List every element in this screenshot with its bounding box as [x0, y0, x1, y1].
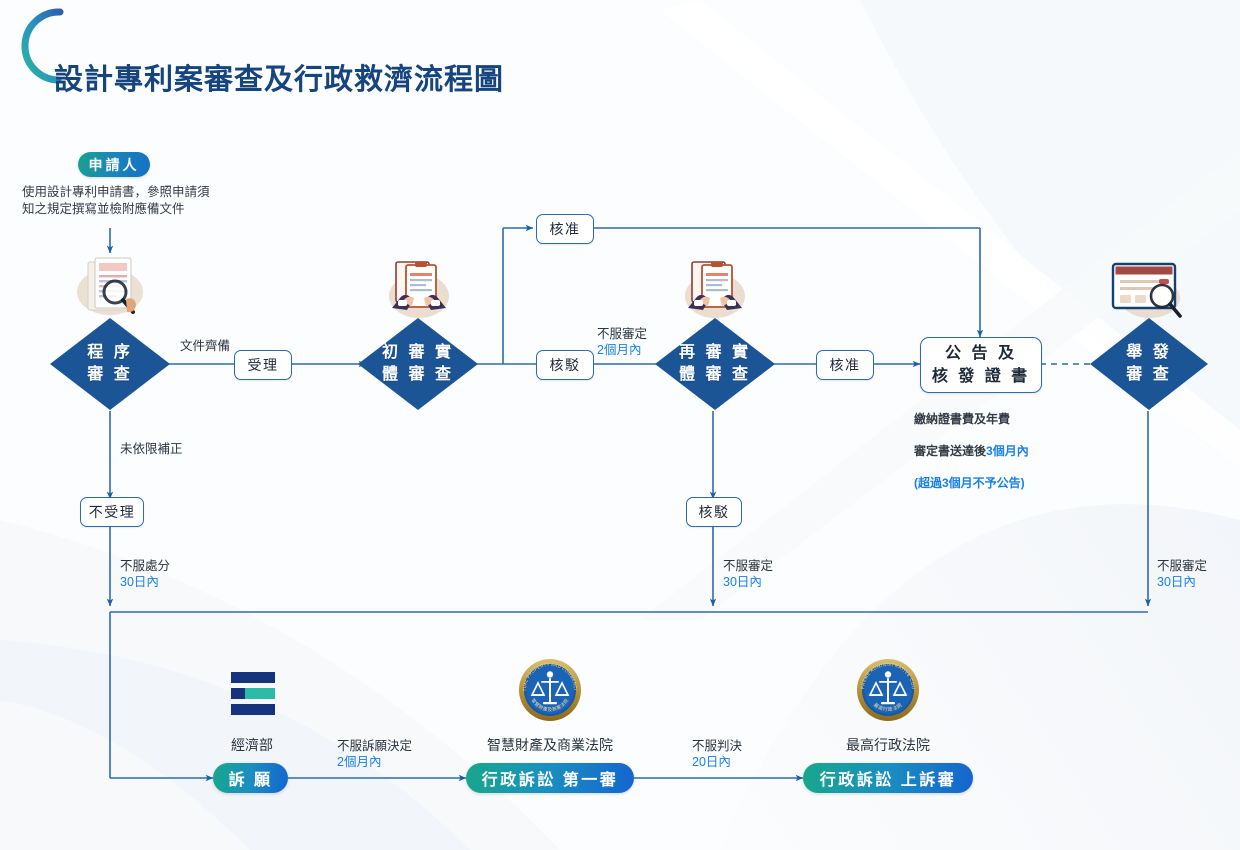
edge-label-deadline: 30日內 [723, 574, 773, 590]
applicant-note: 使用設計專利申請書，參照申請須 知之規定撰寫並檢附應備文件 [22, 184, 252, 218]
edge-label-main: 不服訴願決定 [337, 738, 412, 754]
box-publish-and-issue-certificate[interactable]: 公 告 及 核 發 證 書 [920, 337, 1042, 393]
documents-magnifier-icon [70, 252, 156, 324]
supreme-administrative-court-seal-icon: SUPREME ADMINISTRATIVE COURT 最高行政法院 [856, 658, 920, 722]
stage-invalidation-review[interactable]: 舉 發 審 查 [1090, 318, 1208, 410]
edge-label-deadline: 30日內 [1157, 574, 1207, 590]
edge-label-deadline: 20日內 [692, 754, 742, 770]
edge-label-main: 不服審定 [1157, 558, 1207, 574]
stage-label: 舉 發 審 查 [1090, 318, 1208, 410]
box-not-accept[interactable]: 不受理 [80, 497, 144, 527]
stage-label: 初 審 實 體 審 查 [358, 318, 478, 410]
stage-procedural-review[interactable]: 程 序 審 查 [50, 318, 170, 410]
stage-label-line1: 初 審 實 [382, 342, 454, 364]
box-reject-first[interactable]: 核駁 [536, 350, 594, 380]
stage-label-line1: 舉 發 [1126, 342, 1171, 364]
moea-bars-icon [225, 668, 281, 720]
box-approve-second[interactable]: 核准 [816, 350, 874, 380]
ip-commercial-court-seal-icon: INTELLECTUAL PROPERTY AND COMMERCIAL COU… [518, 658, 582, 722]
publish-note-line2: 審定書送達後3個月內 [914, 443, 1104, 459]
edge-label-not-corrected: 未依限補正 [120, 441, 183, 457]
publish-note-line2-blue: 3個月內 [986, 444, 1029, 458]
edge-label-main: 不服判決 [692, 738, 742, 754]
edge-label-dissatisfied-decision-30d: 不服審定 30日內 [723, 558, 773, 590]
stage-label-line2: 體 審 查 [679, 364, 751, 386]
remedy-pill-admin-litigation-first[interactable]: 行政訴訟 第一審 [466, 763, 634, 793]
publish-line1: 公 告 及 [945, 342, 1017, 365]
stage-first-substantive-review[interactable]: 初 審 實 體 審 查 [358, 318, 478, 410]
org-label-ip-court: 智慧財產及商業法院 [462, 735, 638, 755]
org-label-moea: 經濟部 [200, 735, 304, 755]
publish-line2: 核 發 證 書 [932, 365, 1030, 388]
org-label-supreme-admin-court: 最高行政法院 [816, 735, 960, 755]
stage-label: 程 序 審 查 [50, 318, 170, 410]
publish-note-line3: (超過3個月不予公告) [914, 475, 1104, 491]
edge-label-main: 不服處分 [120, 558, 170, 574]
person-reading-document-icon [676, 256, 754, 322]
stage-label-line2: 審 查 [1126, 364, 1171, 386]
edge-label-main: 不服審定 [723, 558, 773, 574]
stage-label-line1: 程 序 [87, 342, 132, 364]
edge-label-deadline: 2個月內 [597, 342, 647, 358]
applicant-badge: 申請人 [78, 152, 150, 177]
box-reject-second[interactable]: 核駁 [686, 497, 742, 527]
edge-label-dissatisfied-judgment: 不服判決 20日內 [692, 738, 742, 770]
edge-label-dissatisfied-decision-2m: 不服審定 2個月內 [597, 326, 647, 358]
box-accept[interactable]: 受理 [234, 350, 292, 380]
stage-label-line2: 體 審 查 [382, 364, 454, 386]
edge-label-dissatisfied-invalidation: 不服審定 30日內 [1157, 558, 1207, 590]
stage-label-line1: 再 審 實 [679, 342, 751, 364]
remedy-pill-appeal[interactable]: 訴 願 [213, 763, 288, 793]
browser-magnifier-icon [1106, 258, 1190, 324]
box-approve-top[interactable]: 核准 [536, 214, 594, 244]
edge-label-dissatisfied-appeal: 不服訴願決定 2個月內 [337, 738, 412, 770]
person-reading-document-icon [380, 256, 458, 322]
remedy-pill-admin-litigation-appeal[interactable]: 行政訴訟 上訴審 [803, 763, 973, 793]
flowchart-canvas: 設計專利案審查及行政救濟流程圖 舉 [0, 0, 1240, 850]
stage-re-substantive-review[interactable]: 再 審 實 體 審 查 [655, 318, 775, 410]
stage-label: 再 審 實 體 審 查 [655, 318, 775, 410]
publish-note-line1: 繳納證書費及年費 [914, 411, 1104, 427]
stage-label-line2: 審 查 [87, 364, 132, 386]
edge-label-documents-complete: 文件齊備 [180, 338, 230, 354]
edge-label-main: 不服審定 [597, 326, 647, 342]
edge-label-dissatisfied-disposition: 不服處分 30日內 [120, 558, 170, 590]
edge-label-deadline: 2個月內 [337, 754, 412, 770]
edge-label-deadline: 30日內 [120, 574, 170, 590]
publish-note: 繳納證書費及年費 審定書送達後3個月內 (超過3個月不予公告) [914, 395, 1104, 507]
publish-note-line2-dark: 審定書送達後 [914, 444, 986, 458]
